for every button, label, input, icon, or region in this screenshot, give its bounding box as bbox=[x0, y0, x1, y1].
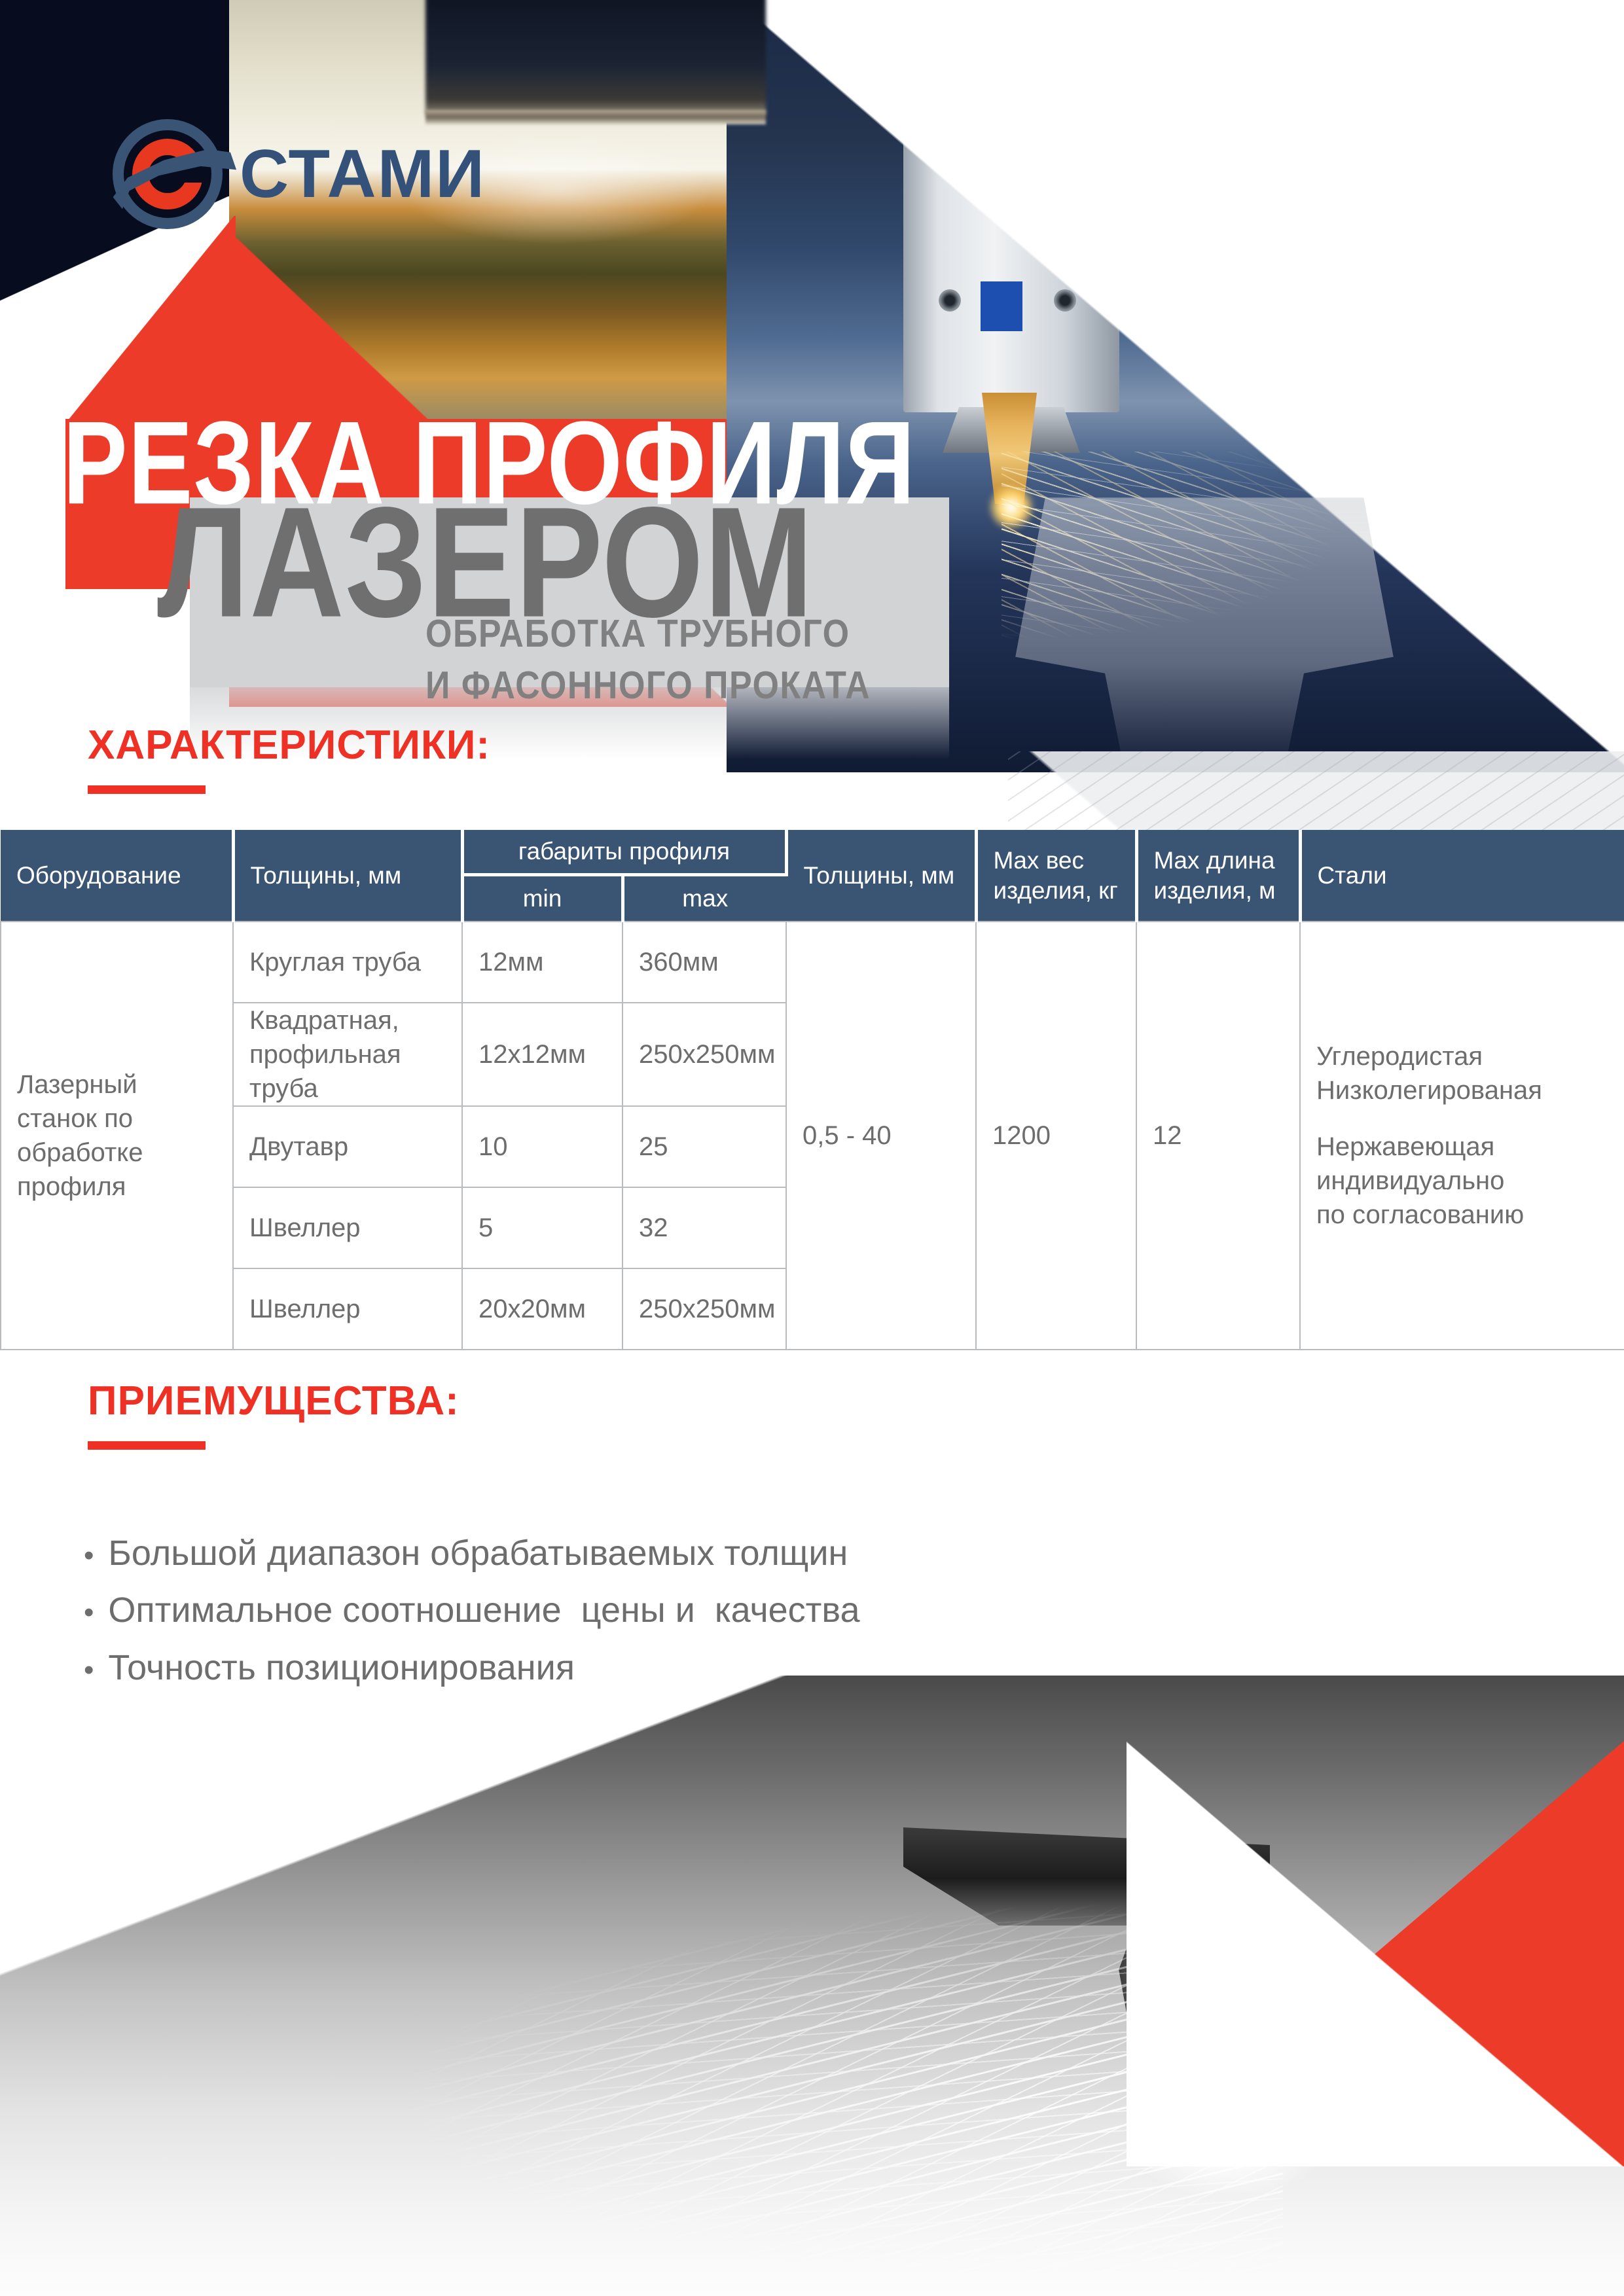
stami-circle-swoosh-logo-icon bbox=[113, 119, 223, 229]
bolt-icon bbox=[1054, 289, 1076, 312]
th-profile-dims: габариты профиля bbox=[462, 830, 786, 874]
td-equipment: Лазерный станок по обработке профиля bbox=[1, 922, 233, 1350]
td-max: 250х250мм bbox=[623, 1003, 786, 1106]
td-min: 12х12мм bbox=[462, 1003, 623, 1106]
td-thickness-sheet: 0,5 - 40 bbox=[786, 922, 976, 1350]
table-body: Лазерный станок по обработке профиля Кру… bbox=[1, 922, 1624, 1350]
hero-subtitle-line1: ОБРАБОТКА ТРУБНОГО bbox=[425, 609, 871, 660]
pipe-dark-end bbox=[425, 0, 766, 115]
list-item: • Оптимальное соотношение цены и качеств… bbox=[84, 1582, 860, 1639]
td-kind: Квадратная, профильная труба bbox=[233, 1003, 462, 1106]
th-max-weight-line2: изделия, кг bbox=[994, 876, 1119, 905]
td-max: 250х250мм bbox=[623, 1268, 786, 1350]
steel-line-4: индивидуально bbox=[1316, 1164, 1608, 1198]
advantages-heading: ПРИЕМУЩЕСТВА: bbox=[88, 1381, 460, 1422]
advantages-list: • Большой диапазон обрабатываемых толщин… bbox=[84, 1525, 860, 1696]
characteristics-heading: ХАРАКТЕРИСТИКИ: bbox=[88, 725, 490, 766]
steel-spacer bbox=[1316, 1107, 1608, 1130]
advantage-text: Точность позиционирования bbox=[108, 1640, 575, 1696]
table-row: Лазерный станок по обработке профиля Кру… bbox=[1, 922, 1624, 1003]
hero-subtitle: ОБРАБОТКА ТРУБНОГО И ФАСОННОГО ПРОКАТА bbox=[425, 609, 871, 711]
th-thickness-profile: Толщины, мм bbox=[233, 830, 462, 922]
characteristics-heading-rule bbox=[88, 785, 206, 794]
td-max: 25 bbox=[623, 1106, 786, 1187]
td-min: 5 bbox=[462, 1187, 623, 1268]
advantage-text: Оптимальное соотношение цены и качества bbox=[108, 1582, 859, 1639]
td-max-length: 12 bbox=[1136, 922, 1300, 1350]
hero-subtitle-line2: И ФАСОННОГО ПРОКАТА bbox=[425, 660, 871, 711]
steel-line-1: Углеродистая bbox=[1316, 1039, 1608, 1073]
td-kind: Швеллер bbox=[233, 1187, 462, 1268]
lens-icon bbox=[929, 13, 995, 79]
td-kind: Круглая труба bbox=[233, 922, 462, 1003]
brand-logo: СТАМИ bbox=[113, 119, 486, 229]
th-thickness-sheet: Толщины, мм bbox=[786, 830, 976, 922]
steel-line-2: Низколегированая bbox=[1316, 1073, 1608, 1107]
th-max: max bbox=[623, 874, 786, 922]
td-min: 10 bbox=[462, 1106, 623, 1187]
advantages-heading-rule bbox=[88, 1441, 206, 1450]
laser-head-icon bbox=[903, 0, 1119, 412]
machine-yellow-panel bbox=[1565, 0, 1624, 131]
list-item: • Точность позиционирования bbox=[84, 1640, 860, 1696]
steel-line-5: по согласованию bbox=[1316, 1198, 1608, 1232]
td-max: 360мм bbox=[623, 922, 786, 1003]
td-kind: Двутавр bbox=[233, 1106, 462, 1187]
footer-banner bbox=[0, 1676, 1624, 2296]
td-min: 12мм bbox=[462, 922, 623, 1003]
bolt-icon bbox=[939, 289, 961, 312]
bullet-icon: • bbox=[84, 1656, 94, 1685]
td-steels: Углеродистая Низколегированая Нержавеюща… bbox=[1300, 922, 1624, 1350]
td-max-weight: 1200 bbox=[976, 922, 1136, 1350]
th-equipment: Оборудование bbox=[1, 830, 233, 922]
list-item: • Большой диапазон обрабатываемых толщин bbox=[84, 1525, 860, 1582]
table-header-row-1: Оборудование Толщины, мм габариты профил… bbox=[1, 830, 1624, 874]
machine-panel bbox=[988, 0, 1070, 79]
td-max: 32 bbox=[623, 1187, 786, 1268]
th-max-weight: Max вес изделия, кг bbox=[976, 830, 1136, 922]
th-min: min bbox=[462, 874, 623, 922]
advantage-text: Большой диапазон обрабатываемых толщин bbox=[108, 1525, 848, 1582]
td-min: 20х20мм bbox=[462, 1268, 623, 1350]
footer-sparks-spray bbox=[0, 1892, 1283, 2296]
th-max-weight-line1: Max вес bbox=[994, 846, 1119, 875]
td-kind: Швеллер bbox=[233, 1268, 462, 1350]
th-steels: Стали bbox=[1300, 830, 1624, 922]
steel-line-3: Нержавеющая bbox=[1316, 1130, 1608, 1164]
th-max-length-line2: изделия, м bbox=[1154, 876, 1283, 905]
blue-label-icon bbox=[981, 281, 1022, 331]
hero-red-wedge bbox=[65, 216, 236, 425]
th-max-length: Max длина изделия, м bbox=[1136, 830, 1300, 922]
brand-name: СТАМИ bbox=[240, 140, 486, 208]
specifications-table: Оборудование Толщины, мм габариты профил… bbox=[0, 830, 1624, 1350]
hero-banner: СТАМИ РЕЗКА ПРОФИЛЯ ЛАЗЕРОМ ОБРАБОТКА ТР… bbox=[0, 0, 1624, 772]
bullet-icon: • bbox=[84, 1541, 94, 1570]
bullet-icon: • bbox=[84, 1598, 94, 1627]
th-max-length-line1: Max длина bbox=[1154, 846, 1283, 875]
specifications-section: Оборудование Толщины, мм габариты профил… bbox=[0, 830, 1624, 1327]
